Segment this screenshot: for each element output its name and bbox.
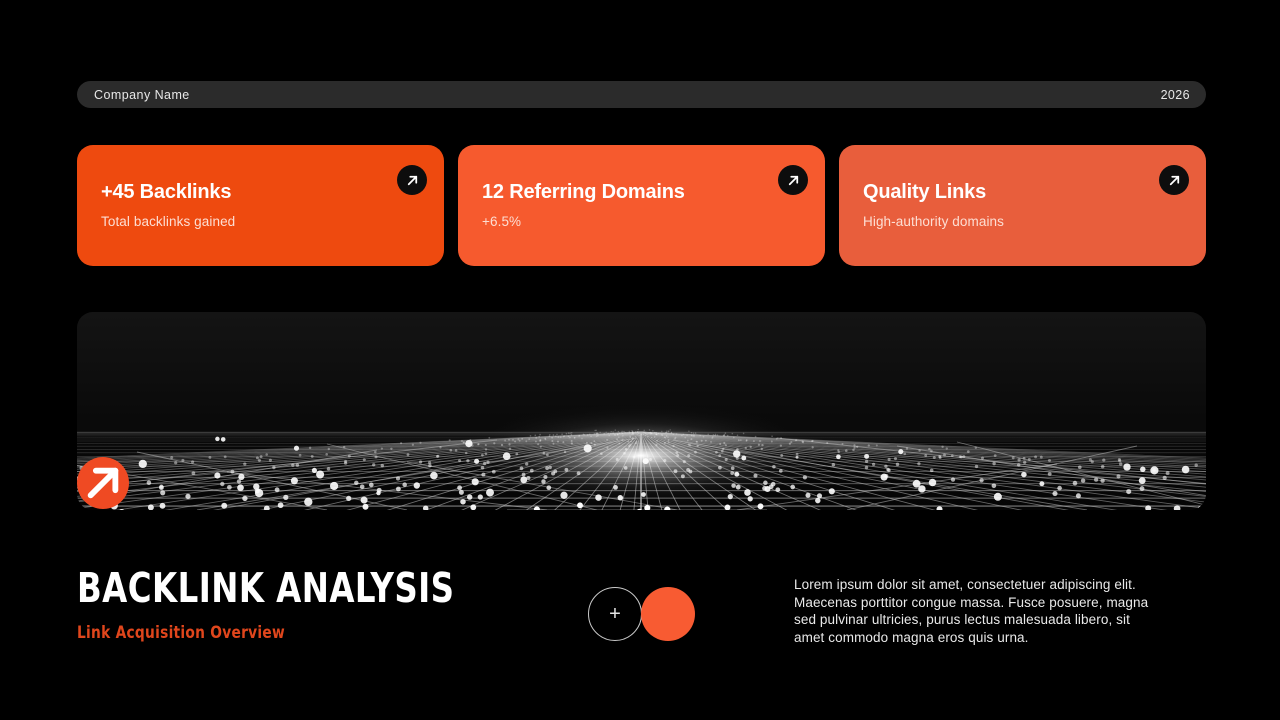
stat-card-quality-links[interactable]: Quality Links High-authority domains [839,145,1206,266]
arrow-up-right-icon[interactable] [778,165,808,195]
arrow-up-right-icon[interactable] [1159,165,1189,195]
page-title: BACKLINK ANALYSIS [77,568,454,609]
network-grid-graphic [77,312,1206,510]
year-label: 2026 [1161,88,1190,102]
filled-circle-icon[interactable] [641,587,695,641]
stat-card-row: +45 Backlinks Total backlinks gained 12 … [77,145,1206,266]
body-paragraph: Lorem ipsum dolor sit amet, consectetuer… [794,576,1159,646]
page-subtitle: Link Acquisition Overview [77,623,463,643]
hero-arrow-up-right-icon[interactable] [77,457,129,509]
stat-card-subtitle: +6.5% [482,214,825,229]
stat-card-subtitle: Total backlinks gained [101,214,444,229]
circle-button-group: + [588,587,698,642]
arrow-up-right-icon[interactable] [397,165,427,195]
stat-card-title: Quality Links [863,181,1206,203]
footer-section: BACKLINK ANALYSIS Link Acquisition Overv… [0,560,1280,680]
hero-network-image [77,312,1206,510]
title-block: BACKLINK ANALYSIS Link Acquisition Overv… [77,568,506,643]
slide-root: Company Name 2026 +45 Backlinks Total ba… [0,0,1280,720]
stat-card-backlinks[interactable]: +45 Backlinks Total backlinks gained [77,145,444,266]
stat-card-subtitle: High-authority domains [863,214,1206,229]
stat-card-title: 12 Referring Domains [482,181,825,203]
header-bar: Company Name 2026 [77,81,1206,108]
company-name-label: Company Name [94,88,190,102]
stat-card-referring-domains[interactable]: 12 Referring Domains +6.5% [458,145,825,266]
stat-card-title: +45 Backlinks [101,181,444,203]
plus-icon[interactable]: + [588,587,642,641]
plus-glyph-label: + [609,604,621,624]
